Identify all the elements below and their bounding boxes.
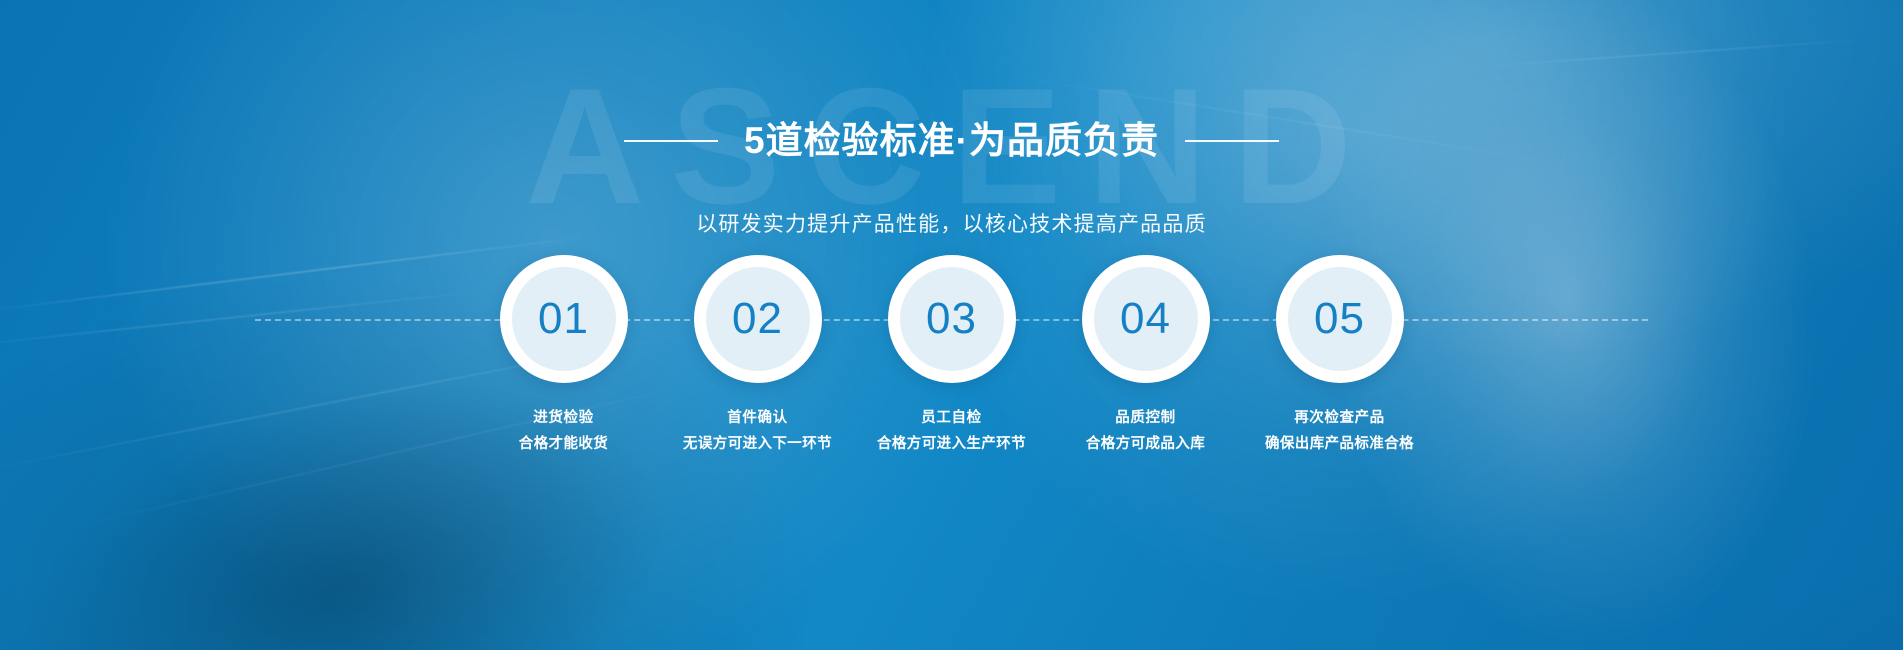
step-item-03[interactable]: 03 员工自检 合格方可进入生产环节 [867, 255, 1037, 456]
title-rule-right-icon [1185, 140, 1279, 142]
step-caption: 首件确认 无误方可进入下一环节 [683, 408, 832, 456]
step-number: 03 [926, 297, 977, 341]
step-number: 01 [538, 297, 589, 341]
step-description: 合格方可成品入库 [1086, 433, 1205, 456]
step-bubble-inner: 01 [512, 267, 616, 371]
step-description: 合格方可进入生产环节 [877, 433, 1026, 456]
step-number: 05 [1314, 297, 1365, 341]
step-description: 确保出库产品标准合格 [1265, 433, 1414, 456]
step-caption: 再次检查产品 确保出库产品标准合格 [1265, 408, 1414, 456]
step-item-02[interactable]: 02 首件确认 无误方可进入下一环节 [673, 255, 843, 456]
step-bubble[interactable]: 04 [1082, 255, 1210, 383]
step-caption: 进货检验 合格才能收货 [519, 408, 608, 456]
step-title: 首件确认 [683, 408, 832, 430]
step-bubble[interactable]: 01 [500, 255, 628, 383]
steps-list: 01 进货检验 合格才能收货 02 首件确认 无误方可进入下一环节 [0, 255, 1903, 456]
step-caption: 员工自检 合格方可进入生产环节 [877, 408, 1026, 456]
step-number: 02 [732, 297, 783, 341]
step-description: 无误方可进入下一环节 [683, 433, 832, 456]
steps-section: 01 进货检验 合格才能收货 02 首件确认 无误方可进入下一环节 [0, 255, 1903, 515]
banner-stage: ASCEND 5道检验标准·为品质负责 以研发实力提升产品性能，以核心技术提高产… [0, 0, 1903, 650]
title-rule-left-icon [624, 140, 718, 142]
step-title: 员工自检 [877, 408, 1026, 430]
step-item-01[interactable]: 01 进货检验 合格才能收货 [479, 255, 649, 456]
step-title: 再次检查产品 [1265, 408, 1414, 430]
page-title: 5道检验标准·为品质负责 [744, 121, 1159, 162]
step-item-04[interactable]: 04 品质控制 合格方可成品入库 [1061, 255, 1231, 456]
step-bubble[interactable]: 05 [1276, 255, 1404, 383]
step-bubble[interactable]: 02 [694, 255, 822, 383]
page-subtitle: 以研发实力提升产品性能，以核心技术提高产品品质 [0, 208, 1903, 238]
step-bubble[interactable]: 03 [888, 255, 1016, 383]
step-description: 合格才能收货 [519, 433, 608, 456]
step-bubble-inner: 05 [1288, 267, 1392, 371]
step-title: 进货检验 [519, 408, 608, 430]
step-number: 04 [1120, 297, 1171, 341]
title-row: 5道检验标准·为品质负责 [0, 96, 1903, 186]
step-title: 品质控制 [1086, 408, 1205, 430]
banner-header: 5道检验标准·为品质负责 以研发实力提升产品性能，以核心技术提高产品品质 [0, 96, 1903, 238]
step-bubble-inner: 02 [706, 267, 810, 371]
step-caption: 品质控制 合格方可成品入库 [1086, 408, 1205, 456]
step-item-05[interactable]: 05 再次检查产品 确保出库产品标准合格 [1255, 255, 1425, 456]
step-bubble-inner: 03 [900, 267, 1004, 371]
step-bubble-inner: 04 [1094, 267, 1198, 371]
